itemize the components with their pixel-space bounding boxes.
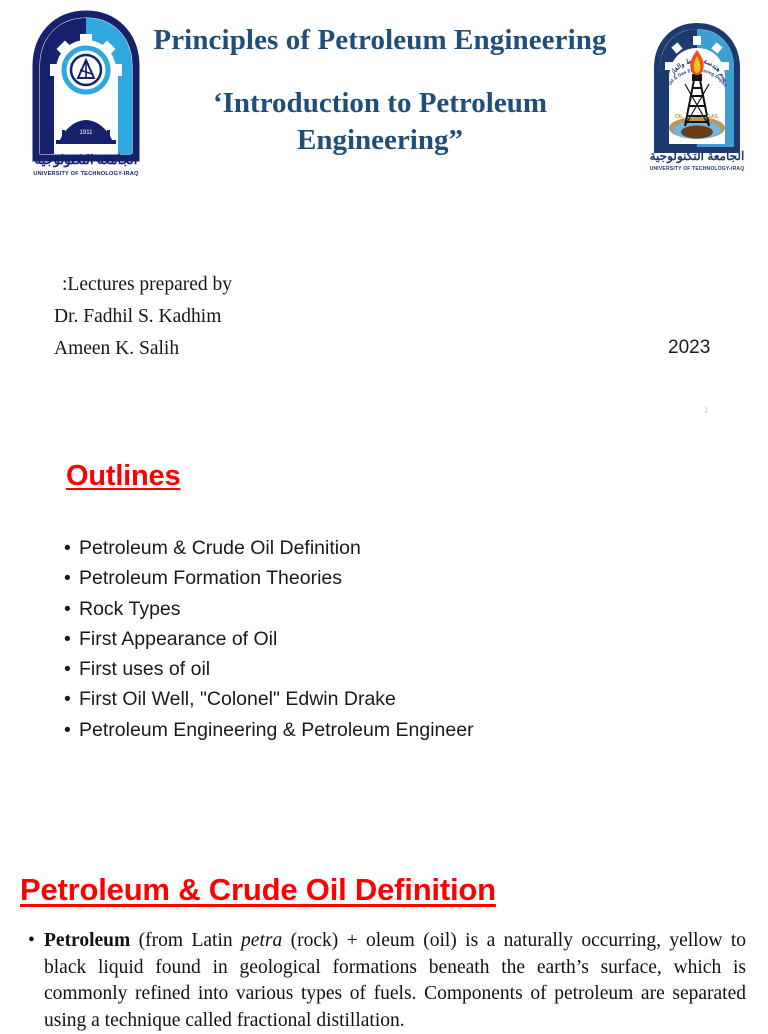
page-number: 1 bbox=[704, 406, 708, 415]
definition-paragraph: •Petroleum (from Latin petra (rock) + ol… bbox=[22, 928, 746, 1034]
university-of-technology-iraq-logo: 1911 الجامعة التكنولوجية UNIVERSITY OF T… bbox=[16, 8, 156, 186]
definition-term: Petroleum bbox=[44, 930, 130, 951]
list-item-label: Rock Types bbox=[79, 598, 181, 620]
list-item-label: Petroleum Engineering & Petroleum Engine… bbox=[79, 719, 474, 741]
svg-text:GAS: GAS bbox=[707, 114, 719, 120]
page-subtitle: ‘Introduction to Petroleum Engineering” bbox=[145, 59, 615, 159]
bullet-glyph: • bbox=[28, 928, 35, 955]
list-item: •First Oil Well, "Colonel" Edwin Drake bbox=[64, 684, 684, 714]
svg-text:الجامعة التكنولوجية: الجامعة التكنولوجية bbox=[35, 152, 138, 168]
bullet-glyph: • bbox=[64, 533, 79, 563]
list-item-label: First uses of oil bbox=[79, 658, 210, 680]
bullet-glyph: • bbox=[64, 624, 79, 654]
slide-header: 1911 الجامعة التكنولوجية UNIVERSITY OF T… bbox=[0, 0, 768, 232]
svg-text:1911: 1911 bbox=[80, 130, 94, 136]
prepared-by-label: :Lectures prepared by bbox=[54, 269, 232, 301]
outlines-heading: Outlines bbox=[66, 460, 180, 493]
outlines-list: •Petroleum & Crude Oil Definition •Petro… bbox=[64, 533, 684, 745]
page-title: Principles of Petroleum Engineering bbox=[150, 22, 610, 59]
definition-latin-word: petra bbox=[241, 930, 282, 951]
title-block: Principles of Petroleum Engineering ‘Int… bbox=[150, 22, 610, 159]
list-item-label: Petroleum & Crude Oil Definition bbox=[79, 537, 361, 559]
lecturer-name-1: Dr. Fadhil S. Kadhim bbox=[54, 301, 232, 333]
svg-text:UNIVERSITY OF TECHNOLOGY-IRAQ: UNIVERSITY OF TECHNOLOGY-IRAQ bbox=[33, 171, 139, 177]
list-item: •Petroleum Engineering & Petroleum Engin… bbox=[64, 715, 684, 745]
year-label: 2023 bbox=[668, 337, 710, 359]
lecturers-block: :Lectures prepared by Dr. Fadhil S. Kadh… bbox=[54, 269, 232, 365]
lecturer-name-2: Ameen K. Salih bbox=[54, 333, 232, 365]
list-item: •Petroleum Formation Theories bbox=[64, 563, 684, 593]
definition-text-part-1: (from Latin bbox=[130, 930, 241, 951]
oil-and-gas-engineering-department-logo: قسم هندسة النفط والغاز Oil & Gas Enginee… bbox=[645, 22, 749, 178]
svg-text:الجامعة التكنولوجية: الجامعة التكنولوجية bbox=[650, 149, 745, 164]
list-item-label: First Oil Well, "Colonel" Edwin Drake bbox=[79, 688, 396, 710]
svg-text:UNIVERSITY OF TECHNOLOGY-IRAQ: UNIVERSITY OF TECHNOLOGY-IRAQ bbox=[650, 166, 745, 172]
list-item: •First uses of oil bbox=[64, 654, 684, 684]
bullet-glyph: • bbox=[64, 715, 79, 745]
svg-text:OIL: OIL bbox=[675, 114, 683, 120]
bullet-glyph: • bbox=[64, 594, 79, 624]
definition-heading: Petroleum & Crude Oil Definition bbox=[20, 872, 496, 908]
list-item: •Petroleum & Crude Oil Definition bbox=[64, 533, 684, 563]
definition-body: •Petroleum (from Latin petra (rock) + ol… bbox=[22, 928, 746, 1034]
bullet-glyph: • bbox=[64, 563, 79, 593]
bullet-glyph: • bbox=[64, 684, 79, 714]
list-item: •Rock Types bbox=[64, 594, 684, 624]
list-item-label: Petroleum Formation Theories bbox=[79, 567, 342, 589]
bullet-glyph: • bbox=[64, 654, 79, 684]
list-item: •First Appearance of Oil bbox=[64, 624, 684, 654]
list-item-label: First Appearance of Oil bbox=[79, 628, 277, 650]
